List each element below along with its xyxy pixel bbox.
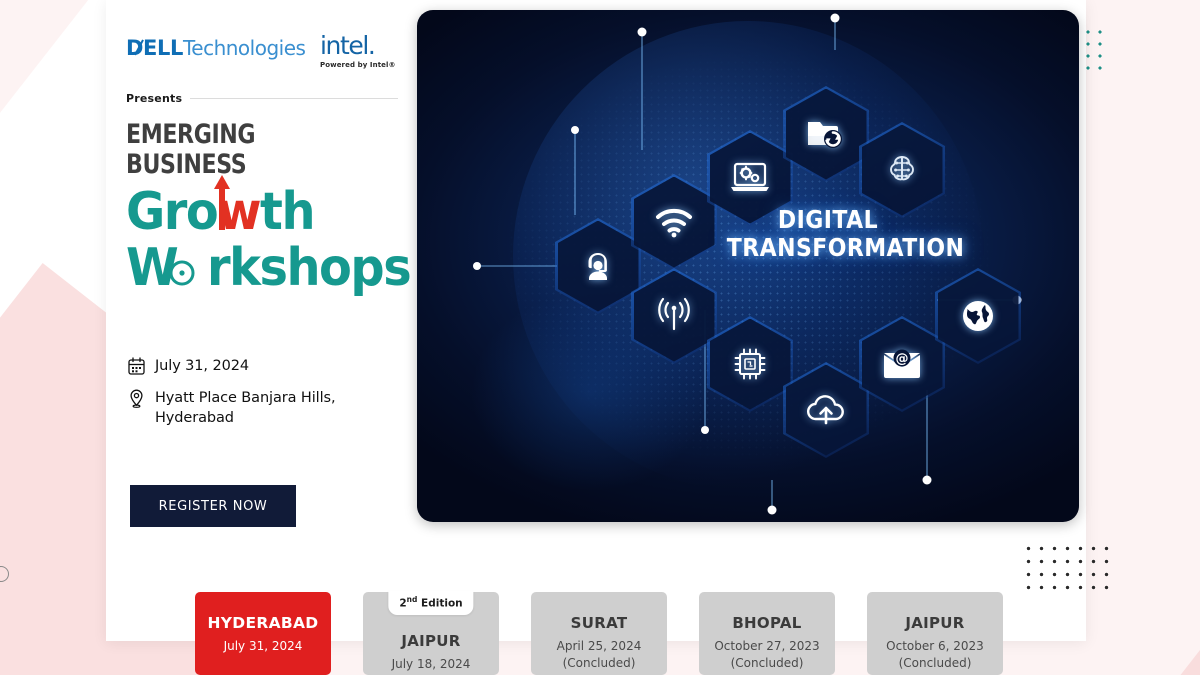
tab-edition-badge: 2nd Edition (388, 591, 473, 615)
city-tabs: HYDERABAD July 31, 2024 2nd Edition JAIP… (195, 592, 1195, 675)
growth-part-th: th (260, 182, 314, 242)
teal-dot-grid-decoration (1082, 26, 1108, 78)
tab-status-label: (Concluded) (899, 656, 972, 670)
dell-technologies-logo: DELL Technologies (126, 36, 305, 60)
broadcast-antenna-icon (655, 297, 693, 335)
title-line-workshops: Workshops (126, 240, 398, 296)
tab-status-label: (Concluded) (563, 656, 636, 670)
logo-row: DELL Technologies intel. Powered by Inte… (126, 32, 398, 82)
tab-date-label: April 25, 2024 (557, 639, 642, 653)
title-line-growth: Growth (126, 186, 398, 238)
title-line-emerging: EMERGING (126, 120, 349, 150)
intel-tagline: Powered by Intel® (320, 61, 396, 69)
arrow-stem (219, 184, 225, 230)
event-venue-row: Hyatt Place Banjara Hills, Hyderabad (128, 388, 400, 428)
hero-connector-lines (417, 10, 1079, 522)
presents-label: Presents (126, 92, 182, 105)
dell-wordmark: DELL (126, 36, 183, 60)
tab-date-label: October 27, 2023 (714, 639, 819, 653)
tab-city-label: SURAT (571, 614, 628, 632)
tab-date-label: October 6, 2023 (886, 639, 984, 653)
left-column: DELL Technologies intel. Powered by Inte… (126, 0, 396, 560)
globe-icon (959, 297, 997, 335)
event-title-block: EMERGING BUSINESS Growth Workshops (126, 120, 398, 296)
page-root: DELL Technologies intel. Powered by Inte… (0, 0, 1200, 675)
event-date-row: July 31, 2024 (128, 356, 400, 376)
calendar-icon (128, 357, 145, 376)
tab-date-label: July 18, 2024 (392, 657, 471, 671)
event-venue-text: Hyatt Place Banjara Hills, Hyderabad (155, 388, 400, 428)
tab-date-label: July 31, 2024 (224, 639, 303, 653)
arrow-head (214, 175, 230, 189)
folder-sync-icon (806, 116, 846, 152)
tab-surat[interactable]: SURAT April 25, 2024 (Concluded) (531, 592, 667, 675)
intel-period: . (368, 31, 375, 60)
tab-city-label: JAIPUR (905, 614, 964, 632)
event-meta: July 31, 2024 Hyatt Place Banjara Hills,… (128, 356, 400, 440)
badge-ordinal-suffix: nd (407, 595, 418, 604)
dell-technologies-label: Technologies (183, 36, 305, 60)
hero-image-digital-transformation: @ DIGITAL TRANSFORMATION (417, 10, 1079, 522)
cpu-chip-icon (731, 345, 769, 383)
compass-icon (169, 258, 195, 288)
title-line-business: BUSINESS (126, 150, 349, 180)
presents-row: Presents (126, 90, 398, 106)
event-date-text: July 31, 2024 (155, 356, 249, 376)
presents-divider (190, 98, 398, 99)
ai-brain-chip-icon (883, 151, 921, 189)
tab-city-label: JAIPUR (401, 632, 460, 650)
tab-status-label: (Concluded) (731, 656, 804, 670)
intel-text: intel (320, 31, 368, 60)
tab-hyderabad[interactable]: HYDERABAD July 31, 2024 (195, 592, 331, 675)
support-agent-icon (579, 247, 617, 285)
tab-city-label: BHOPAL (732, 614, 801, 632)
location-pin-icon (128, 389, 145, 408)
laptop-gears-icon (729, 160, 771, 196)
tab-bhopal[interactable]: BHOPAL October 27, 2023 (Concluded) (699, 592, 835, 675)
cloud-upload-icon (805, 393, 847, 427)
intel-logo: intel. Powered by Intel® (320, 32, 396, 69)
svg-text:@: @ (896, 352, 909, 367)
intel-wordmark: intel. (320, 32, 396, 59)
workshops-text: Workshops (126, 240, 376, 296)
growth-part-gro: Gro (126, 182, 217, 242)
tab-jaipur-2nd-edition[interactable]: 2nd Edition JAIPUR July 18, 2024 (363, 592, 499, 675)
dark-dot-grid-decoration (1022, 542, 1114, 590)
email-at-icon: @ (881, 347, 923, 381)
growth-text: Growth (126, 186, 376, 238)
register-now-button[interactable]: REGISTER NOW (130, 485, 296, 527)
badge-edition-word: Edition (417, 598, 462, 610)
workshops-part-rkshops: rkshops (207, 238, 410, 298)
tab-city-label: HYDERABAD (208, 614, 319, 632)
tab-jaipur-2023[interactable]: JAIPUR October 6, 2023 (Concluded) (867, 592, 1003, 675)
wifi-icon (654, 206, 694, 238)
